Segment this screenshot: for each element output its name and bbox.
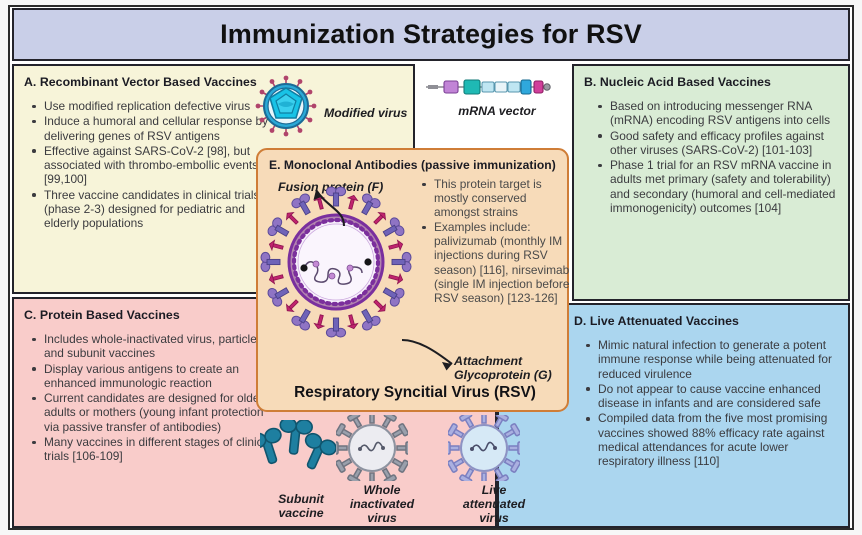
panel-b-bullet-list: Based on introducing messenger RNA (mRNA… bbox=[596, 99, 846, 216]
panel-a-title: A. Recombinant Vector Based Vaccines bbox=[24, 75, 257, 89]
list-item: Current candidates are designed for olde… bbox=[30, 391, 278, 434]
panel-c-title: C. Protein Based Vaccines bbox=[24, 308, 180, 322]
modified-virus-label: Modified virus bbox=[324, 106, 420, 120]
attachment-glycoprotein-arrow-icon bbox=[400, 338, 462, 379]
panel-d-bullet-list: Mimic natural infection to generate a po… bbox=[584, 338, 842, 470]
panel-b-nucleic-acid: B. Nucleic Acid Based Vaccines Based on … bbox=[572, 64, 850, 301]
list-item: Phase 1 trial for an RSV mRNA vaccine in… bbox=[596, 158, 846, 215]
subunit-vaccine-label: Subunit vaccine bbox=[258, 492, 344, 520]
figure-header: Immunization Strategies for RSV bbox=[12, 8, 850, 61]
list-item: This protein target is mostly conserved … bbox=[420, 177, 570, 219]
list-item: Good safety and efficacy profiles agains… bbox=[596, 129, 846, 158]
list-item: Examples include: palivizumab (monthly I… bbox=[420, 220, 570, 305]
list-item: Use modified replication defective virus bbox=[30, 99, 270, 113]
list-item: Based on introducing messenger RNA (mRNA… bbox=[596, 99, 846, 128]
whole-inactivated-virus-icon bbox=[336, 415, 408, 486]
rsv-virus-caption: Respiratory Syncitial Virus (RSV) bbox=[270, 384, 560, 402]
list-item: Compiled data from the five most promisi… bbox=[584, 411, 842, 468]
list-item: Effective against SARS-CoV-2 [98], but a… bbox=[30, 144, 270, 187]
mrna-vector-icon bbox=[424, 74, 552, 105]
subunit-vaccine-icon bbox=[260, 420, 336, 487]
whole-inactivated-virus-label: Whole inactivated virus bbox=[341, 483, 423, 526]
panel-e-title: E. Monoclonal Antibodies (passive immuni… bbox=[269, 158, 556, 172]
list-item: Includes whole-inactivated virus, partic… bbox=[30, 332, 278, 361]
attachment-glycoprotein-label: Attachment Glycoprotein (G) bbox=[454, 354, 552, 382]
list-item: Three vaccine candidates in clinical tri… bbox=[30, 188, 270, 231]
panel-b-title: B. Nucleic Acid Based Vaccines bbox=[584, 75, 771, 89]
list-item: Do not appear to cause vaccine enhanced … bbox=[584, 382, 842, 411]
panel-c-bullet-list: Includes whole-inactivated virus, partic… bbox=[30, 332, 278, 465]
list-item: Mimic natural infection to generate a po… bbox=[584, 338, 842, 381]
panel-e-bullet-list: This protein target is mostly conserved … bbox=[420, 177, 570, 306]
list-item: Display various antigens to create an en… bbox=[30, 362, 278, 391]
panel-a-bullet-list: Use modified replication defective virus… bbox=[30, 99, 270, 232]
figure-root: Immunization Strategies for RSV A. Recom… bbox=[0, 0, 862, 535]
page-title: Immunization Strategies for RSV bbox=[220, 19, 642, 50]
modified-virus-icon bbox=[254, 74, 318, 143]
mrna-vector-label: mRNA vector bbox=[432, 104, 562, 118]
fusion-protein-arrow-icon bbox=[300, 180, 352, 233]
list-item: Many vaccines in different stages of cli… bbox=[30, 435, 278, 464]
panel-d-title: D. Live Attenuated Vaccines bbox=[574, 314, 739, 328]
live-attenuated-virus-label: Live attenuated virus bbox=[444, 483, 544, 526]
live-attenuated-virus-icon bbox=[448, 415, 520, 486]
list-item: Induce a humoral and cellular response b… bbox=[30, 114, 270, 143]
